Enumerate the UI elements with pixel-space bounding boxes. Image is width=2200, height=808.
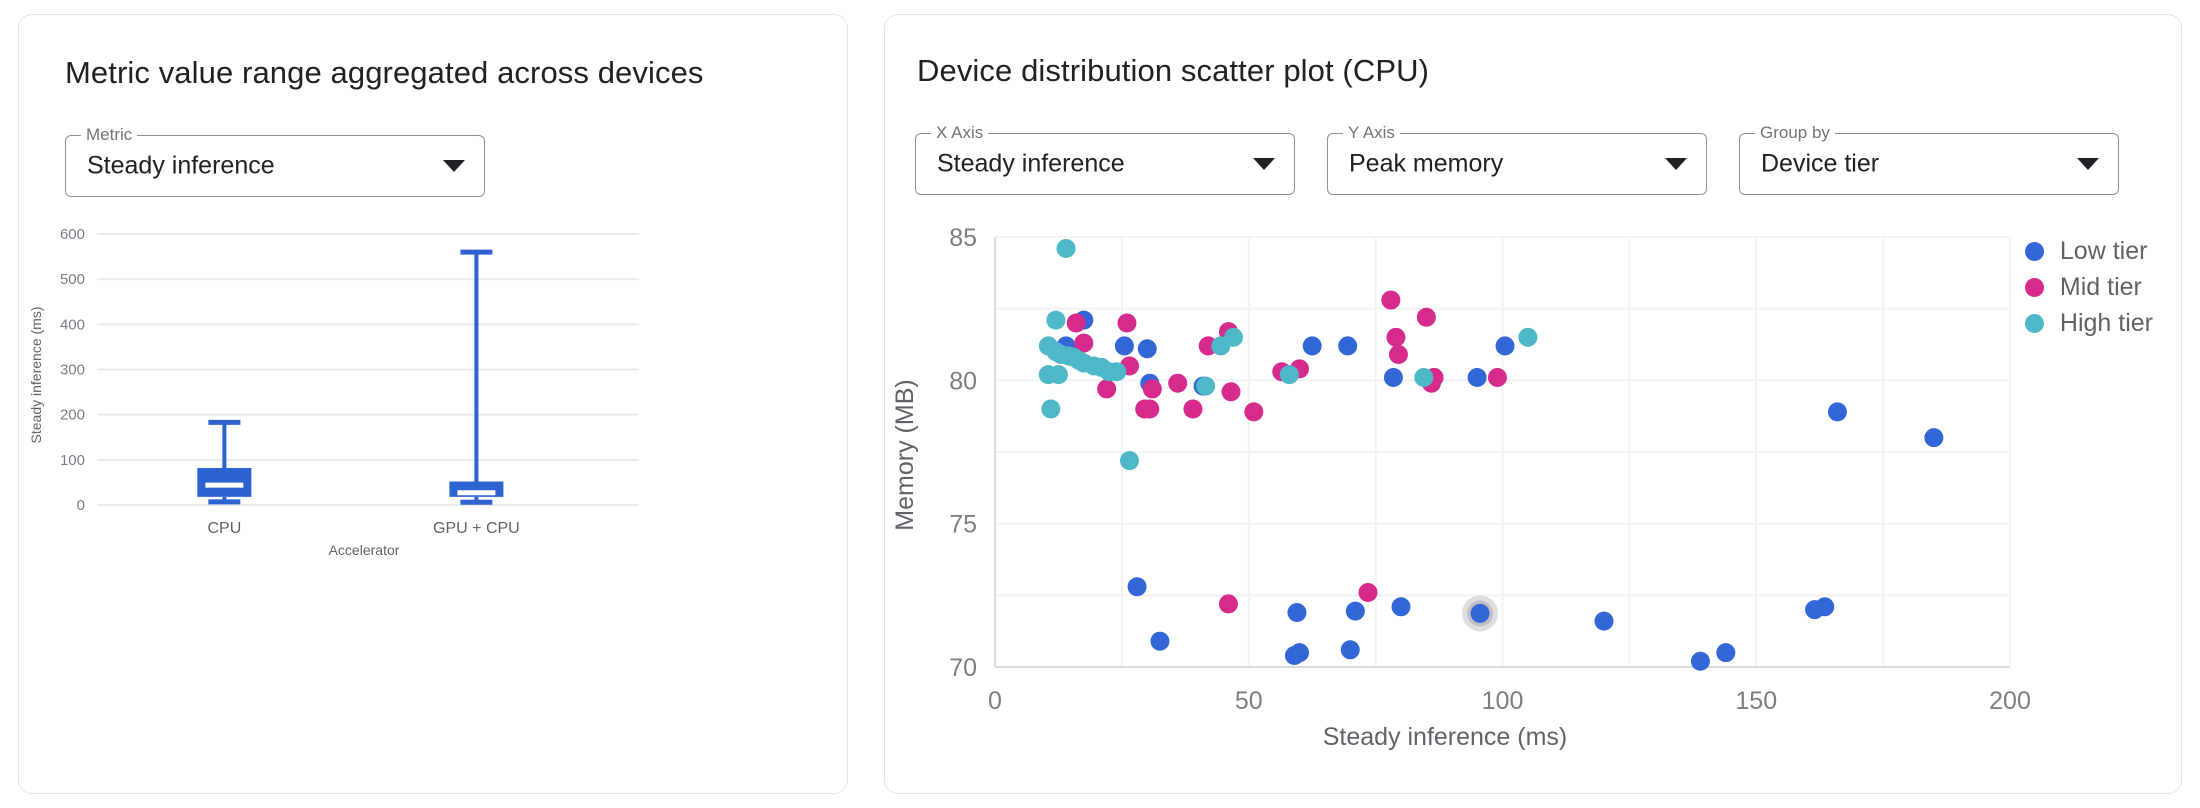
svg-text:85: 85 — [949, 224, 977, 252]
scatter-x-tick-labels: 050100150200 — [988, 687, 2031, 715]
scatter-dot[interactable] — [1097, 379, 1116, 398]
scatter-dot[interactable] — [1196, 377, 1215, 396]
scatter-dot[interactable] — [1041, 400, 1060, 419]
scatter-dot[interactable] — [1338, 336, 1357, 355]
boxplot-boxes — [197, 252, 503, 502]
scatter-dot[interactable] — [1280, 365, 1299, 384]
boxplot-svg: 0100200300400500600 CPUGPU + CPU Steady … — [19, 215, 847, 775]
legend-swatch-icon — [2025, 242, 2044, 261]
scatter-dot[interactable] — [1290, 643, 1309, 662]
boxplot-chart: 0100200300400500600 CPUGPU + CPU Steady … — [19, 215, 847, 775]
scatter-dot[interactable] — [1595, 612, 1614, 631]
scatter-dot[interactable] — [1924, 428, 1943, 447]
svg-text:200: 200 — [60, 407, 85, 424]
metric-select-value: Steady inference — [87, 152, 275, 181]
boxplot-y-tick-labels: 0100200300400500600 — [60, 226, 85, 514]
legend-swatch-icon — [2025, 278, 2044, 297]
scatter-dot[interactable] — [1138, 339, 1157, 358]
metric-select-label: Metric — [81, 126, 137, 144]
scatter-dot[interactable] — [1392, 597, 1411, 616]
scatter-dot[interactable] — [1128, 577, 1147, 596]
scatter-points[interactable] — [1039, 239, 1944, 671]
scatter-dot[interactable] — [1341, 640, 1360, 659]
scatter-dot[interactable] — [1815, 597, 1834, 616]
chevron-down-icon[interactable] — [443, 160, 465, 172]
scatter-dot[interactable] — [1057, 239, 1076, 258]
metric-range-card: Metric value range aggregated across dev… — [18, 14, 848, 794]
scatter-dot[interactable] — [1183, 400, 1202, 419]
scatter-dot[interactable] — [1303, 336, 1322, 355]
group-by-select-label: Group by — [1755, 124, 1835, 142]
scatter-dot[interactable] — [1221, 382, 1240, 401]
legend-item-mid-tier[interactable]: Mid tier — [2025, 269, 2153, 305]
scatter-y-tick-labels: 70758085 — [949, 224, 977, 682]
scatter-dot[interactable] — [1468, 368, 1487, 387]
dashboard-root: Metric value range aggregated across dev… — [0, 0, 2200, 808]
scatter-dot[interactable] — [1046, 311, 1065, 330]
scatter-gridlines — [995, 237, 2010, 667]
scatter-dot[interactable] — [1168, 374, 1187, 393]
svg-text:80: 80 — [949, 367, 977, 395]
scatter-x-axis-title: Steady inference (ms) — [1323, 723, 1568, 751]
svg-text:70: 70 — [949, 654, 977, 682]
scatter-svg: 050100150200 70758085 Memory (MB) Steady… — [885, 205, 2182, 785]
scatter-dot[interactable] — [1471, 604, 1490, 623]
y-axis-select-value: Peak memory — [1349, 150, 1503, 179]
y-axis-select[interactable]: Y Axis Peak memory — [1327, 133, 1707, 195]
scatter-y-axis-title: Memory (MB) — [891, 379, 919, 530]
legend-label: High tier — [2060, 309, 2153, 338]
svg-text:200: 200 — [1989, 687, 2031, 715]
scatter-dot[interactable] — [1346, 602, 1365, 621]
svg-text:600: 600 — [60, 226, 85, 243]
scatter-dot[interactable] — [1117, 314, 1136, 333]
boxplot-y-axis-title: Steady inference (ms) — [28, 307, 44, 444]
scatter-plot-card: Device distribution scatter plot (CPU) X… — [884, 14, 2182, 794]
chevron-down-icon[interactable] — [1665, 158, 1687, 170]
legend-item-high-tier[interactable]: High tier — [2025, 305, 2153, 341]
legend-item-low-tier[interactable]: Low tier — [2025, 233, 2153, 269]
scatter-chart: 050100150200 70758085 Memory (MB) Steady… — [885, 205, 2182, 785]
svg-text:CPU: CPU — [207, 520, 241, 537]
scatter-dot[interactable] — [1120, 451, 1139, 470]
svg-text:150: 150 — [1735, 687, 1777, 715]
boxplot-category-labels: CPUGPU + CPU — [207, 520, 519, 537]
y-axis-select-label: Y Axis — [1343, 124, 1400, 142]
group-by-select-value: Device tier — [1761, 150, 1879, 179]
scatter-dot[interactable] — [1150, 632, 1169, 651]
page-title: Metric value range aggregated across dev… — [65, 55, 704, 91]
scatter-dot[interactable] — [1049, 365, 1068, 384]
svg-text:500: 500 — [60, 271, 85, 288]
svg-text:100: 100 — [60, 452, 85, 469]
legend-swatch-icon — [2025, 314, 2044, 333]
scatter-title: Device distribution scatter plot (CPU) — [917, 53, 1429, 89]
scatter-legend: Low tier Mid tier High tier — [2025, 233, 2153, 341]
boxplot-gridlines — [97, 234, 639, 505]
svg-text:400: 400 — [60, 316, 85, 333]
svg-text:0: 0 — [77, 497, 85, 514]
scatter-dot[interactable] — [1287, 603, 1306, 622]
group-by-select[interactable]: Group by Device tier — [1739, 133, 2119, 195]
svg-text:0: 0 — [988, 687, 1002, 715]
scatter-dot[interactable] — [1211, 336, 1230, 355]
svg-text:75: 75 — [949, 511, 977, 539]
scatter-dot[interactable] — [1716, 643, 1735, 662]
scatter-dot[interactable] — [1386, 328, 1405, 347]
scatter-dot[interactable] — [1244, 402, 1263, 421]
scatter-dot[interactable] — [1219, 594, 1238, 613]
scatter-dot[interactable] — [1115, 336, 1134, 355]
scatter-dot[interactable] — [1107, 362, 1126, 381]
scatter-dot[interactable] — [1143, 379, 1162, 398]
scatter-dot[interactable] — [1140, 400, 1159, 419]
scatter-dot[interactable] — [1518, 328, 1537, 347]
scatter-dot[interactable] — [1384, 368, 1403, 387]
legend-label: Low tier — [2060, 237, 2148, 266]
svg-text:100: 100 — [1482, 687, 1524, 715]
x-axis-select[interactable]: X Axis Steady inference — [915, 133, 1295, 195]
legend-label: Mid tier — [2060, 273, 2142, 302]
scatter-dot[interactable] — [1414, 368, 1433, 387]
scatter-dot[interactable] — [1828, 402, 1847, 421]
x-axis-select-value: Steady inference — [937, 150, 1125, 179]
x-axis-select-label: X Axis — [931, 124, 988, 142]
scatter-dot[interactable] — [1067, 314, 1086, 333]
chevron-down-icon[interactable] — [1253, 158, 1275, 170]
scatter-dot[interactable] — [1496, 336, 1515, 355]
chevron-down-icon[interactable] — [2077, 158, 2099, 170]
scatter-dot[interactable] — [1381, 291, 1400, 310]
boxplot-x-axis-title: Accelerator — [329, 542, 400, 558]
svg-text:300: 300 — [60, 362, 85, 379]
scatter-dot[interactable] — [1691, 652, 1710, 671]
svg-text:50: 50 — [1235, 687, 1263, 715]
scatter-dot[interactable] — [1417, 308, 1436, 327]
svg-text:GPU + CPU: GPU + CPU — [433, 520, 520, 537]
scatter-dot[interactable] — [1488, 368, 1507, 387]
scatter-dot[interactable] — [1359, 583, 1378, 602]
scatter-dot[interactable] — [1389, 345, 1408, 364]
metric-select[interactable]: Metric Steady inference — [65, 135, 485, 197]
